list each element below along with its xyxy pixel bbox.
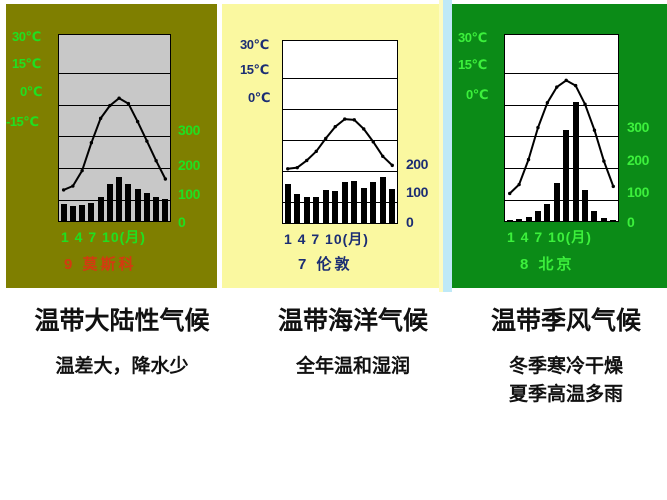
temp-tick-15-moscow: 15℃ [12,56,41,72]
climate-comparison-figure: 30℃ 15℃ 0℃ -15℃ 300 200 100 0 1 4 7 10(月… [0,0,667,500]
temp-tick-neg15-moscow: -15℃ [6,114,39,130]
panel-beijing: 30℃ 15℃ 0℃ 300 200 100 0 1 4 7 10(月) 8 北… [452,4,667,288]
precip-tick-200-london: 200 [406,156,428,172]
precip-tick-300-beijing: 300 [627,119,649,135]
temp-tick-0-moscow: 0℃ [20,84,42,100]
caption-continental: 温带大陆性气候 温差大，降水少 [2,304,242,380]
panel-divider [443,0,452,292]
panel-moscow: 30℃ 15℃ 0℃ -15℃ 300 200 100 0 1 4 7 10(月… [6,4,217,288]
x-axis-labels-moscow: 1 4 7 10(月) [61,227,146,247]
temp-tick-30-beijing: 30℃ [458,30,487,46]
precip-tick-0-moscow: 0 [178,214,185,230]
precip-tick-100-moscow: 100 [178,186,200,202]
precip-tick-200-beijing: 200 [627,152,649,168]
climogram-plot-moscow [58,34,171,222]
x-axis-labels-beijing: 1 4 7 10(月) [507,227,592,247]
caption-maritime: 温带海洋气候 全年温和湿润 [244,304,462,380]
precip-tick-300-moscow: 300 [178,122,200,138]
temp-tick-0-beijing: 0℃ [466,87,488,103]
city-label-london: 7 伦敦 [298,253,353,274]
caption-line-monsoon-1: 冬季寒冷干燥 [466,352,666,380]
caption-title-maritime: 温带海洋气候 [244,304,462,338]
climogram-plot-beijing [504,34,619,222]
caption-line-maritime-1: 全年温和湿润 [244,352,462,380]
captions-row: 温带大陆性气候 温差大，降水少 温带海洋气候 全年温和湿润 温带季风气候 冬季寒… [0,292,667,500]
caption-line-continental-1: 温差大，降水少 [2,352,242,380]
precip-tick-100-london: 100 [406,184,428,200]
temp-tick-30-moscow: 30℃ [12,29,41,45]
x-axis-labels-london: 1 4 7 10(月) [284,229,369,249]
precip-tick-0-london: 0 [406,214,413,230]
temp-tick-15-london: 15℃ [240,62,269,78]
caption-monsoon: 温带季风气候 冬季寒冷干燥 夏季高温多雨 [466,304,666,408]
precip-tick-0-beijing: 0 [627,214,634,230]
temp-tick-0-london: 0℃ [248,90,270,106]
city-label-beijing: 8 北京 [520,253,575,274]
temp-tick-30-london: 30℃ [240,37,269,53]
caption-title-monsoon: 温带季风气候 [466,304,666,338]
chart-panels-row: 30℃ 15℃ 0℃ -15℃ 300 200 100 0 1 4 7 10(月… [0,0,667,292]
temperature-curve [59,35,170,221]
climogram-plot-london [282,40,398,224]
temp-tick-15-beijing: 15℃ [458,57,487,73]
caption-title-continental: 温带大陆性气候 [2,304,242,338]
temperature-curve [505,35,618,221]
precip-tick-200-moscow: 200 [178,157,200,173]
temperature-curve [283,41,397,223]
caption-line-monsoon-2: 夏季高温多雨 [466,380,666,408]
panel-london: 30℃ 15℃ 0℃ 200 100 0 1 4 7 10(月) 7 伦敦 [222,4,439,288]
precip-tick-100-beijing: 100 [627,184,649,200]
city-label-moscow: 9 莫斯科 [64,253,137,274]
